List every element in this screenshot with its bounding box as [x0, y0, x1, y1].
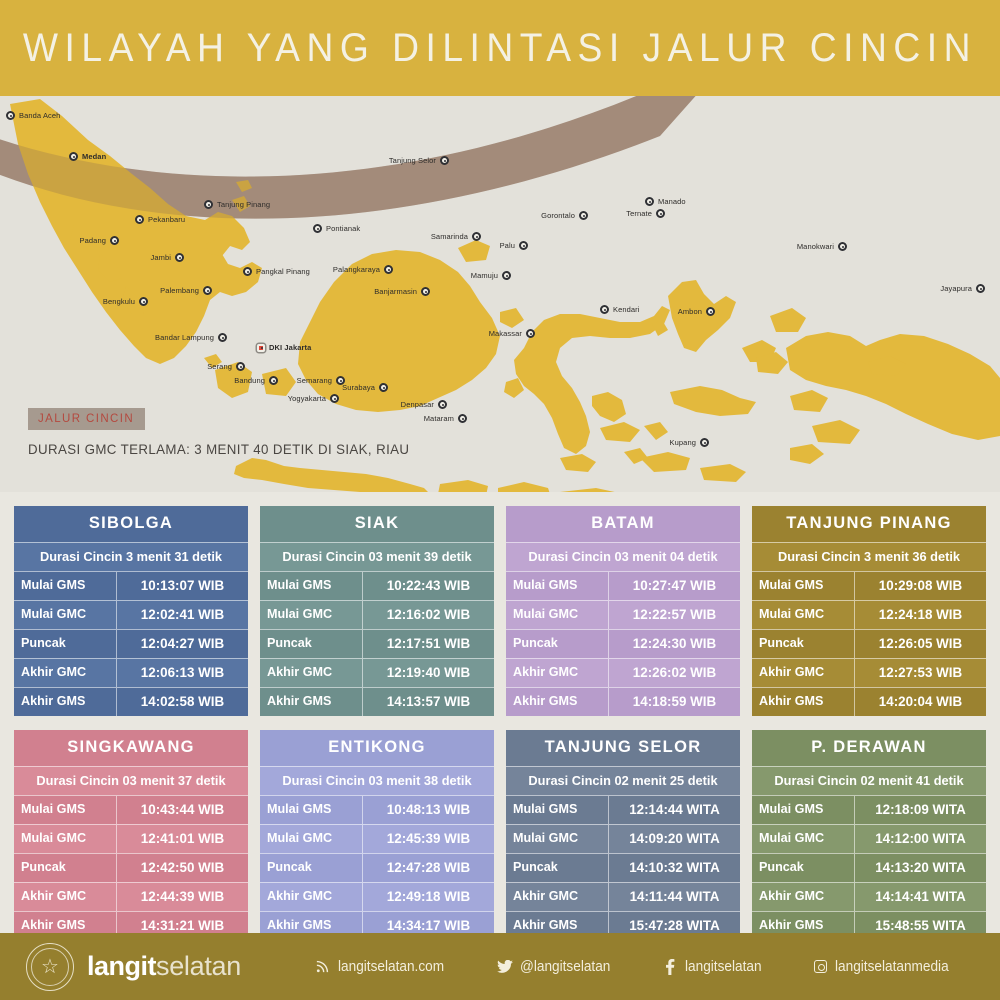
- card-row-value: 14:11:44 WITA: [609, 883, 740, 911]
- city-marker: Yogyakarta: [288, 394, 339, 403]
- card-duration: Durasi Cincin 02 menit 41 detik: [752, 766, 986, 795]
- card-duration: Durasi Cincin 3 menit 31 detik: [14, 542, 248, 571]
- card-row-value: 12:49:18 WIB: [363, 883, 494, 911]
- card-row-label: Puncak: [260, 630, 363, 658]
- island-papua: [786, 332, 1000, 440]
- card-row-label: Puncak: [14, 630, 117, 658]
- city-marker: Manokwari: [797, 242, 847, 251]
- card-row-value: 12:04:27 WIB: [117, 630, 248, 658]
- card-row: Mulai GMS10:43:44 WIB: [14, 795, 248, 824]
- card-row-value: 12:14:44 WITA: [609, 796, 740, 824]
- city-dot-icon: [440, 156, 449, 165]
- card-title: SIAK: [260, 506, 494, 542]
- city-marker: Mamuju: [471, 271, 511, 280]
- city-label: Semarang: [297, 376, 332, 385]
- city-marker: Medan: [69, 152, 106, 161]
- city-dot-icon: [313, 224, 322, 233]
- card-row: Akhir GMC12:19:40 WIB: [260, 658, 494, 687]
- card-duration: Durasi Cincin 03 menit 39 detik: [260, 542, 494, 571]
- card-row-value: 12:45:39 WIB: [363, 825, 494, 853]
- card-row: Puncak12:24:30 WIB: [506, 629, 740, 658]
- card-row-value: 10:22:43 WIB: [363, 572, 494, 600]
- city-dot-icon: [236, 362, 245, 371]
- card-row-value: 14:18:59 WIB: [609, 688, 740, 716]
- brand-wordmark: langitselatan: [87, 953, 241, 980]
- social-link--langitselatan[interactable]: @langitselatan: [497, 959, 616, 975]
- card-row-value: 12:44:39 WIB: [117, 883, 248, 911]
- timing-card: TANJUNG SELORDurasi Cincin 02 menit 25 d…: [506, 730, 740, 940]
- card-row-label: Mulai GMS: [260, 796, 363, 824]
- city-marker: Banjarmasin: [374, 287, 430, 296]
- city-label: Pekanbaru: [148, 215, 185, 224]
- city-marker: Kupang: [670, 438, 709, 447]
- card-row-value: 12:16:02 WIB: [363, 601, 494, 629]
- city-marker: Bengkulu: [103, 297, 148, 306]
- city-dot-icon: [645, 197, 654, 206]
- card-row-value: 10:29:08 WIB: [855, 572, 986, 600]
- city-marker: Pekanbaru: [135, 215, 185, 224]
- city-marker: Ambon: [678, 307, 715, 316]
- city-label: Bandar Lampung: [155, 333, 214, 342]
- card-row: Puncak14:13:20 WITA: [752, 853, 986, 882]
- card-row-label: Mulai GMC: [14, 825, 117, 853]
- city-label: Palembang: [160, 286, 199, 295]
- card-row: Akhir GMS14:02:58 WIB: [14, 687, 248, 716]
- card-row: Mulai GMS12:14:44 WITA: [506, 795, 740, 824]
- card-duration: Durasi Cincin 03 menit 04 detik: [506, 542, 740, 571]
- card-row: Mulai GMS10:48:13 WIB: [260, 795, 494, 824]
- city-label: Denpasar: [401, 400, 434, 409]
- city-dot-icon: [175, 253, 184, 262]
- city-marker: Serang: [207, 362, 245, 371]
- city-marker: Palembang: [160, 286, 212, 295]
- city-label: Pontianak: [326, 224, 360, 233]
- city-label: Makassar: [489, 329, 522, 338]
- page-header: WILAYAH YANG DILINTASI JALUR CINCIN: [0, 0, 1000, 96]
- card-row-label: Mulai GMS: [260, 572, 363, 600]
- city-marker: Samarinda: [431, 232, 481, 241]
- card-row-value: 14:10:32 WITA: [609, 854, 740, 882]
- city-marker: Banda Aceh: [6, 111, 60, 120]
- city-label: Gorontalo: [541, 211, 575, 220]
- city-dot-icon: [421, 287, 430, 296]
- card-row: Puncak14:10:32 WITA: [506, 853, 740, 882]
- card-row: Mulai GMS10:27:47 WIB: [506, 571, 740, 600]
- timing-card: SIAKDurasi Cincin 03 menit 39 detikMulai…: [260, 506, 494, 716]
- city-label: Kupang: [670, 438, 696, 447]
- card-row-label: Mulai GMC: [260, 825, 363, 853]
- social-label: @langitselatan: [520, 959, 610, 975]
- social-label: langitselatanmedia: [835, 959, 949, 975]
- card-row: Akhir GMC14:14:41 WITA: [752, 882, 986, 911]
- card-title: SIBOLGA: [14, 506, 248, 542]
- card-row: Mulai GMC12:22:57 WIB: [506, 600, 740, 629]
- brand-bold-text: langit: [87, 951, 156, 981]
- card-row-label: Akhir GMC: [14, 659, 117, 687]
- card-row-label: Mulai GMS: [752, 572, 855, 600]
- card-row-value: 12:19:40 WIB: [363, 659, 494, 687]
- card-row-label: Akhir GMC: [260, 659, 363, 687]
- island-sulawesi: [514, 306, 670, 454]
- city-marker: Palu: [500, 241, 528, 250]
- card-row-label: Puncak: [14, 854, 117, 882]
- city-dot-icon: [257, 344, 265, 352]
- card-row-value: 12:24:30 WIB: [609, 630, 740, 658]
- card-row-value: 12:26:02 WIB: [609, 659, 740, 687]
- city-label: Tanjung Pinang: [217, 200, 270, 209]
- card-row: Akhir GMS14:13:57 WIB: [260, 687, 494, 716]
- city-dot-icon: [458, 414, 467, 423]
- timing-card: SIBOLGADurasi Cincin 3 menit 31 detikMul…: [14, 506, 248, 716]
- card-row: Mulai GMC12:02:41 WIB: [14, 600, 248, 629]
- twitter-icon: [497, 959, 513, 975]
- city-marker: Bandung: [234, 376, 278, 385]
- city-dot-icon: [438, 400, 447, 409]
- card-row-value: 12:22:57 WIB: [609, 601, 740, 629]
- city-marker: Ternate: [626, 209, 665, 218]
- card-row: Mulai GMC14:12:00 WITA: [752, 824, 986, 853]
- timing-card: TANJUNG PINANGDurasi Cincin 3 menit 36 d…: [752, 506, 986, 716]
- card-row-label: Akhir GMS: [506, 688, 609, 716]
- city-label: Ambon: [678, 307, 702, 316]
- card-row-label: Mulai GMC: [506, 601, 609, 629]
- social-links: langitselatan.com@langitselatanlangitsel…: [315, 959, 956, 975]
- city-dot-icon: [579, 211, 588, 220]
- city-dot-icon: [526, 329, 535, 338]
- card-duration: Durasi Cincin 03 menit 37 detik: [14, 766, 248, 795]
- card-title: ENTIKONG: [260, 730, 494, 766]
- city-dot-icon: [706, 307, 715, 316]
- city-dot-icon: [838, 242, 847, 251]
- card-row: Mulai GMC14:09:20 WITA: [506, 824, 740, 853]
- card-row-label: Mulai GMS: [14, 572, 117, 600]
- city-label: Jambi: [150, 253, 171, 262]
- city-dot-icon: [502, 271, 511, 280]
- island-halmahera: [668, 280, 736, 352]
- city-dot-icon: [976, 284, 985, 293]
- card-row: Akhir GMC12:06:13 WIB: [14, 658, 248, 687]
- card-row-label: Mulai GMS: [506, 572, 609, 600]
- city-dot-icon: [472, 232, 481, 241]
- card-duration: Durasi Cincin 03 menit 38 detik: [260, 766, 494, 795]
- instagram-icon: [812, 959, 828, 975]
- card-row-value: 14:20:04 WIB: [855, 688, 986, 716]
- card-row-label: Akhir GMS: [752, 688, 855, 716]
- city-dot-icon: [700, 438, 709, 447]
- card-row: Akhir GMS14:20:04 WIB: [752, 687, 986, 716]
- city-marker: Semarang: [297, 376, 345, 385]
- card-row-label: Puncak: [260, 854, 363, 882]
- city-label: Mataram: [424, 414, 454, 423]
- card-row-value: 14:12:00 WITA: [855, 825, 986, 853]
- card-row-label: Mulai GMC: [752, 825, 855, 853]
- card-row: Mulai GMC12:45:39 WIB: [260, 824, 494, 853]
- island-kalimantan: [298, 250, 500, 412]
- card-row-value: 10:48:13 WIB: [363, 796, 494, 824]
- city-label: Palangkaraya: [333, 265, 380, 274]
- city-marker: Jambi: [150, 253, 184, 262]
- city-marker: Palangkaraya: [333, 265, 393, 274]
- city-dot-icon: [203, 286, 212, 295]
- social-label: langitselatan.com: [338, 959, 444, 975]
- city-dot-icon: [135, 215, 144, 224]
- map-graphic: [0, 96, 1000, 492]
- city-marker: Tanjung Selor: [389, 156, 449, 165]
- langitselatan-seal-icon: ☆: [26, 943, 74, 991]
- city-dot-icon: [379, 383, 388, 392]
- card-row: Mulai GMC12:16:02 WIB: [260, 600, 494, 629]
- card-row: Mulai GMS10:29:08 WIB: [752, 571, 986, 600]
- card-row-label: Akhir GMC: [752, 659, 855, 687]
- card-row-value: 12:47:28 WIB: [363, 854, 494, 882]
- card-row-label: Mulai GMS: [506, 796, 609, 824]
- city-marker: Pangkal Pinang: [243, 267, 310, 276]
- city-label: Yogyakarta: [288, 394, 326, 403]
- city-marker: Tanjung Pinang: [204, 200, 270, 209]
- card-title: P. DERAWAN: [752, 730, 986, 766]
- card-row: Akhir GMC12:44:39 WIB: [14, 882, 248, 911]
- city-marker: Padang: [80, 236, 119, 245]
- timing-card: ENTIKONGDurasi Cincin 03 menit 38 detikM…: [260, 730, 494, 940]
- legend-jalur-cincin: JALUR CINCIN: [28, 408, 145, 430]
- brand-light-text: selatan: [156, 951, 241, 981]
- city-marker: Jayapura: [940, 284, 985, 293]
- card-title: TANJUNG SELOR: [506, 730, 740, 766]
- city-label: Pangkal Pinang: [256, 267, 310, 276]
- brand-logo: ☆ langitselatan: [26, 943, 241, 991]
- card-row-label: Mulai GMS: [14, 796, 117, 824]
- city-marker: Bandar Lampung: [155, 333, 227, 342]
- city-marker: Surabaya: [342, 383, 388, 392]
- city-marker: Makassar: [489, 329, 535, 338]
- social-link-langitselatan[interactable]: langitselatan: [662, 959, 766, 975]
- card-row-label: Akhir GMC: [260, 883, 363, 911]
- social-link-langitselatanmedia[interactable]: langitselatanmedia: [812, 959, 956, 975]
- card-row-label: Mulai GMS: [752, 796, 855, 824]
- city-marker: Kendari: [600, 305, 640, 314]
- city-label: Jayapura: [940, 284, 972, 293]
- city-dot-icon: [656, 209, 665, 218]
- card-row-label: Mulai GMC: [260, 601, 363, 629]
- city-dot-icon: [384, 265, 393, 274]
- card-row-value: 14:09:20 WITA: [609, 825, 740, 853]
- card-row-value: 14:14:41 WITA: [855, 883, 986, 911]
- card-row-label: Puncak: [506, 630, 609, 658]
- card-row-label: Akhir GMC: [752, 883, 855, 911]
- card-row-value: 12:17:51 WIB: [363, 630, 494, 658]
- city-label: Bengkulu: [103, 297, 135, 306]
- card-row-value: 14:02:58 WIB: [117, 688, 248, 716]
- card-row: Mulai GMC12:24:18 WIB: [752, 600, 986, 629]
- card-row-value: 12:02:41 WIB: [117, 601, 248, 629]
- card-row-value: 12:41:01 WIB: [117, 825, 248, 853]
- timing-card: P. DERAWANDurasi Cincin 02 menit 41 deti…: [752, 730, 986, 940]
- card-row: Mulai GMS12:18:09 WITA: [752, 795, 986, 824]
- card-row-value: 12:26:05 WIB: [855, 630, 986, 658]
- social-link-langitselatan-com[interactable]: langitselatan.com: [315, 959, 451, 975]
- city-label: Manado: [658, 197, 686, 206]
- city-label: Surabaya: [342, 383, 375, 392]
- card-row-label: Puncak: [752, 630, 855, 658]
- city-label: Banjarmasin: [374, 287, 417, 296]
- card-duration: Durasi Cincin 3 menit 36 detik: [752, 542, 986, 571]
- card-row: Puncak12:26:05 WIB: [752, 629, 986, 658]
- card-row: Akhir GMC12:26:02 WIB: [506, 658, 740, 687]
- card-row-value: 12:06:13 WIB: [117, 659, 248, 687]
- city-dot-icon: [269, 376, 278, 385]
- facebook-icon: [662, 959, 678, 975]
- city-dot-icon: [218, 333, 227, 342]
- card-row-label: Puncak: [752, 854, 855, 882]
- city-dot-icon: [600, 305, 609, 314]
- city-marker: DKI Jakarta: [257, 343, 311, 352]
- card-row: Akhir GMC12:49:18 WIB: [260, 882, 494, 911]
- card-row: Puncak12:42:50 WIB: [14, 853, 248, 882]
- card-title: BATAM: [506, 506, 740, 542]
- timing-card: SINGKAWANGDurasi Cincin 03 menit 37 deti…: [14, 730, 248, 940]
- card-row-value: 12:42:50 WIB: [117, 854, 248, 882]
- city-marker: Mataram: [424, 414, 467, 423]
- city-dot-icon: [330, 394, 339, 403]
- city-marker: Denpasar: [401, 400, 447, 409]
- card-title: TANJUNG PINANG: [752, 506, 986, 542]
- card-row-label: Mulai GMC: [14, 601, 117, 629]
- card-row: Akhir GMC12:27:53 WIB: [752, 658, 986, 687]
- page-title: WILAYAH YANG DILINTASI JALUR CINCIN: [23, 26, 977, 71]
- social-label: langitselatan: [685, 959, 762, 975]
- card-row-value: 12:24:18 WIB: [855, 601, 986, 629]
- card-row-value: 12:18:09 WITA: [855, 796, 986, 824]
- card-row-label: Puncak: [506, 854, 609, 882]
- card-row-value: 10:43:44 WIB: [117, 796, 248, 824]
- card-row: Mulai GMS10:22:43 WIB: [260, 571, 494, 600]
- card-duration: Durasi Cincin 02 menit 25 detik: [506, 766, 740, 795]
- city-dot-icon: [139, 297, 148, 306]
- city-dot-icon: [519, 241, 528, 250]
- city-dot-icon: [6, 111, 15, 120]
- card-row: Puncak12:47:28 WIB: [260, 853, 494, 882]
- city-label: Palu: [500, 241, 515, 250]
- card-row: Akhir GMC14:11:44 WITA: [506, 882, 740, 911]
- card-row-label: Akhir GMS: [14, 688, 117, 716]
- card-row: Puncak12:17:51 WIB: [260, 629, 494, 658]
- city-label: Bandung: [234, 376, 265, 385]
- card-row-label: Akhir GMC: [506, 883, 609, 911]
- card-title: SINGKAWANG: [14, 730, 248, 766]
- city-label: Mamuju: [471, 271, 498, 280]
- card-row-label: Mulai GMC: [506, 825, 609, 853]
- card-row-value: 10:27:47 WIB: [609, 572, 740, 600]
- city-label: Samarinda: [431, 232, 468, 241]
- card-row-value: 10:13:07 WIB: [117, 572, 248, 600]
- city-label: Tanjung Selor: [389, 156, 436, 165]
- city-label: Kendari: [613, 305, 640, 314]
- city-label: Medan: [82, 152, 106, 161]
- card-row: Mulai GMS10:13:07 WIB: [14, 571, 248, 600]
- city-label: Padang: [80, 236, 106, 245]
- card-row: Mulai GMC12:41:01 WIB: [14, 824, 248, 853]
- card-row: Akhir GMS14:18:59 WIB: [506, 687, 740, 716]
- card-row-value: 14:13:57 WIB: [363, 688, 494, 716]
- city-dot-icon: [243, 267, 252, 276]
- page-footer: ☆ langitselatan langitselatan.com@langit…: [0, 933, 1000, 1000]
- card-row-label: Akhir GMC: [506, 659, 609, 687]
- infographic-page: WILAYAH YANG DILINTASI JALUR CINCIN: [0, 0, 1000, 1000]
- card-row-label: Akhir GMS: [260, 688, 363, 716]
- indonesia-map: JALUR CINCIN DURASI GMC TERLAMA: 3 MENIT…: [0, 96, 1000, 492]
- city-label: Serang: [207, 362, 232, 371]
- card-row-value: 12:27:53 WIB: [855, 659, 986, 687]
- city-dot-icon: [204, 200, 213, 209]
- island-java: [234, 458, 430, 492]
- seal-figure-icon: ☆: [41, 957, 59, 977]
- city-marker: Gorontalo: [541, 211, 588, 220]
- city-label: Ternate: [626, 209, 652, 218]
- map-caption: DURASI GMC TERLAMA: 3 MENIT 40 DETIK DI …: [28, 441, 409, 457]
- city-dot-icon: [69, 152, 78, 161]
- city-label: DKI Jakarta: [269, 343, 311, 352]
- card-row-value: 14:13:20 WITA: [855, 854, 986, 882]
- city-marker: Manado: [645, 197, 686, 206]
- rss-icon: [315, 959, 331, 975]
- city-label: Banda Aceh: [19, 111, 60, 120]
- city-timing-cards: SIBOLGADurasi Cincin 3 menit 31 detikMul…: [0, 492, 1000, 940]
- card-row-label: Mulai GMC: [752, 601, 855, 629]
- card-row-label: Akhir GMC: [14, 883, 117, 911]
- city-marker: Pontianak: [313, 224, 360, 233]
- timing-card: BATAMDurasi Cincin 03 menit 04 detikMula…: [506, 506, 740, 716]
- card-row: Puncak12:04:27 WIB: [14, 629, 248, 658]
- island-sumatra: [10, 99, 262, 364]
- city-label: Manokwari: [797, 242, 834, 251]
- city-dot-icon: [110, 236, 119, 245]
